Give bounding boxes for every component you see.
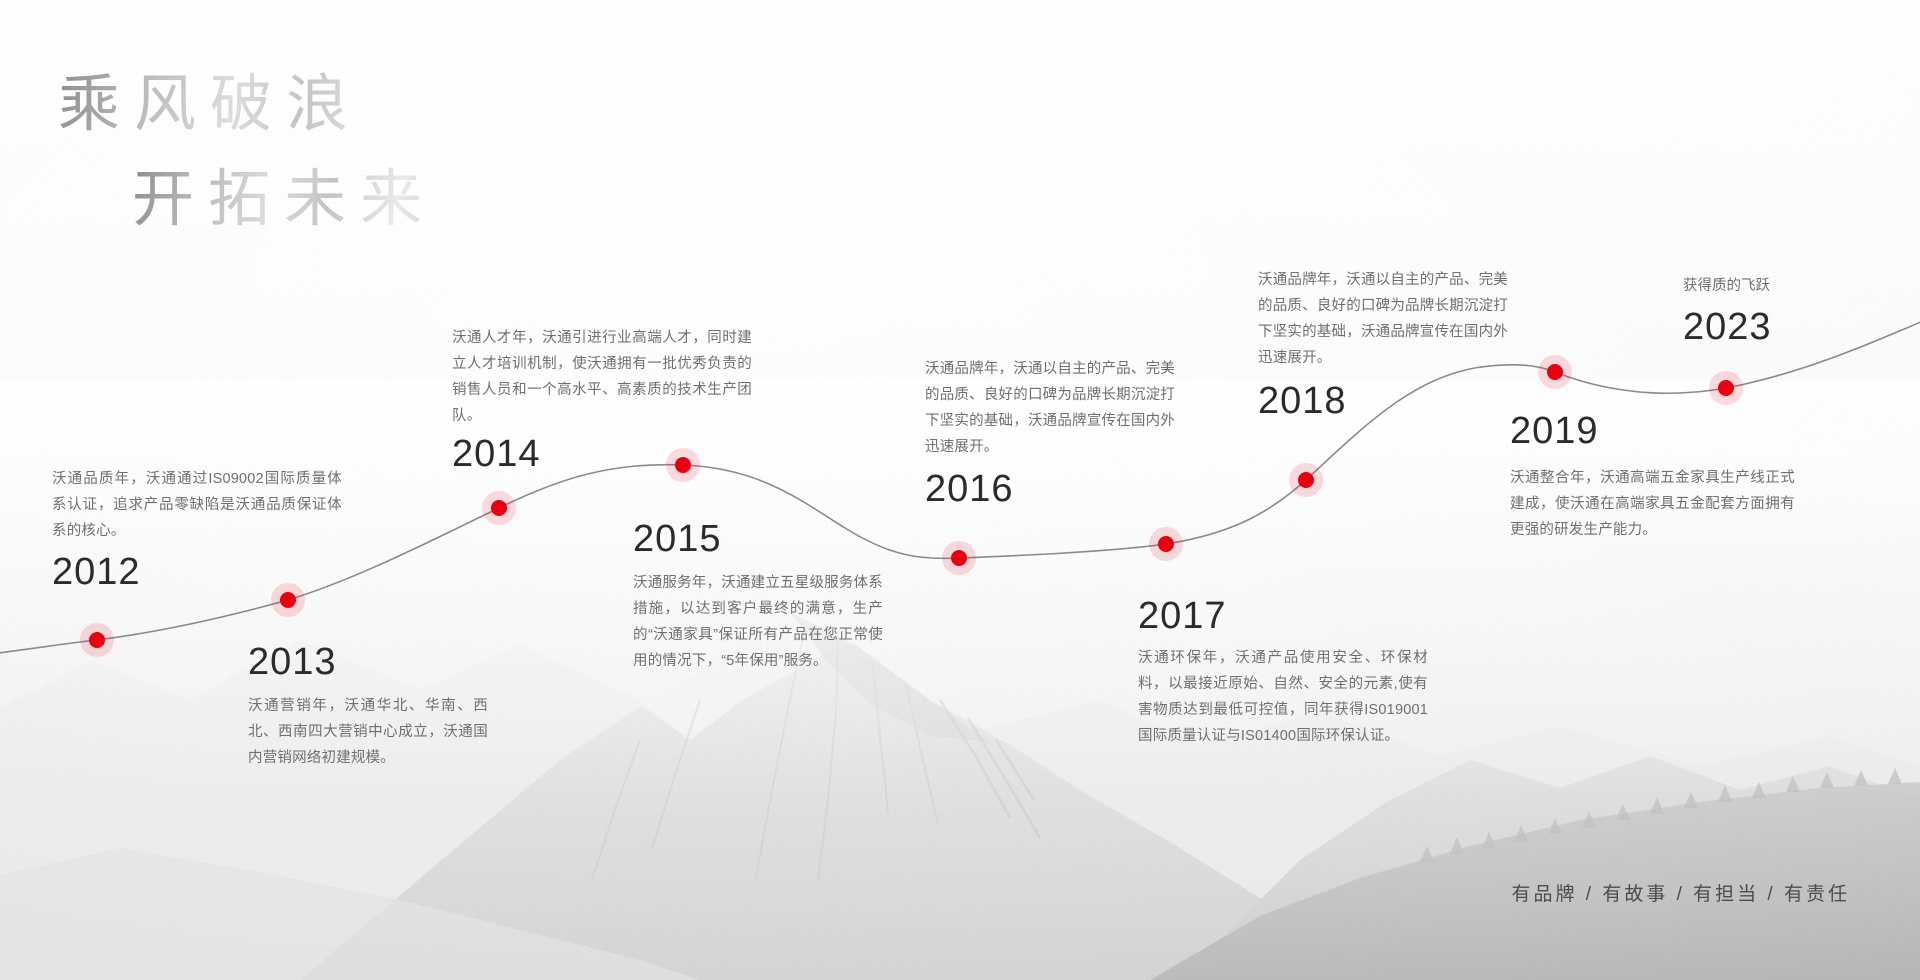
timeline-year-2015: 2015 — [633, 520, 722, 558]
timeline-node-2012[interactable] — [80, 623, 114, 657]
timeline-year-2019: 2019 — [1510, 412, 1599, 450]
timeline-description-2013: 沃通营销年，沃通华北、华南、西北、西南四大营销中心成立，沃通国内营销网络初建规模… — [248, 693, 488, 771]
node-dot — [280, 592, 296, 608]
headline-line-1: 乘风破浪 — [58, 66, 436, 145]
timeline-year-2016: 2016 — [925, 470, 1014, 508]
timeline-node-2014[interactable] — [482, 491, 516, 525]
timeline-year-2014: 2014 — [452, 435, 541, 473]
node-dot — [1158, 536, 1174, 552]
node-dot — [491, 500, 507, 516]
timeline-node-2023[interactable] — [1709, 371, 1743, 405]
timeline-description-2015: 沃通服务年，沃通建立五星级服务体系措施，以达到客户最终的满意，生产的“沃通家具”… — [633, 570, 883, 674]
timeline-node-2017[interactable] — [1149, 527, 1183, 561]
timeline-year-2017: 2017 — [1138, 597, 1227, 635]
timeline-node-2015[interactable] — [666, 448, 700, 482]
slide-canvas: 乘风破浪 开拓未来 沃通品质年，沃通通过IS09002国际质量体系认证，追求产品… — [0, 0, 1920, 980]
headline-block: 乘风破浪 开拓未来 — [58, 66, 436, 241]
headline-line-2: 开拓未来 — [132, 161, 436, 240]
timeline-description-2019: 沃通整合年，沃通高端五金家具生产线正式建成，使沃通在高端家具五金配套方面拥有更强… — [1510, 465, 1795, 543]
timeline-description-2018: 沃通品牌年，沃通以自主的产品、完美的品质、良好的口碑为品牌长期沉淀打下坚实的基础… — [1258, 267, 1508, 371]
timeline-description-2017: 沃通环保年，沃通产品使用安全、环保材料，以最接近原始、自然、安全的元素,使有害物… — [1138, 645, 1428, 749]
node-dot — [1298, 472, 1314, 488]
node-dot — [1547, 364, 1563, 380]
timeline-node-2016[interactable] — [942, 541, 976, 575]
timeline-year-2012: 2012 — [52, 553, 141, 591]
timeline-description-2016: 沃通品牌年，沃通以自主的产品、完美的品质、良好的口碑为品牌长期沉淀打下坚实的基础… — [925, 356, 1175, 460]
timeline-description-2012: 沃通品质年，沃通通过IS09002国际质量体系认证，追求产品零缺陷是沃通品质保证… — [52, 466, 342, 544]
timeline-node-2013[interactable] — [271, 583, 305, 617]
timeline-subtitle-2023: 获得质的飞跃 — [1683, 273, 1770, 299]
node-dot — [951, 550, 967, 566]
node-dot — [675, 457, 691, 473]
node-dot — [89, 632, 105, 648]
timeline-year-2023: 2023 — [1683, 308, 1772, 346]
footer-tagline: 有品牌 / 有故事 / 有担当 / 有责任 — [1511, 879, 1850, 906]
timeline-year-2013: 2013 — [248, 643, 337, 681]
timeline-description-2014: 沃通人才年，沃通引进行业高端人才，同时建立人才培训机制，使沃通拥有一批优秀负责的… — [452, 325, 752, 429]
timeline-node-2019[interactable] — [1538, 355, 1572, 389]
timeline-node-2018[interactable] — [1289, 463, 1323, 497]
timeline-year-2018: 2018 — [1258, 382, 1347, 420]
node-dot — [1718, 380, 1734, 396]
